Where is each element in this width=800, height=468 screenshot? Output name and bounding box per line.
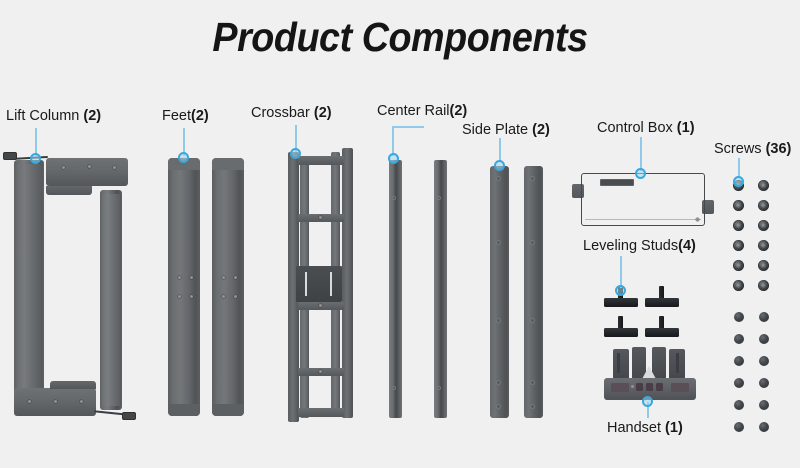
label-side-plate: Side Plate (2)	[462, 122, 550, 138]
crossbar-rail-right	[342, 148, 353, 418]
side-plate-hole	[530, 176, 535, 181]
handset-panel-right	[671, 383, 689, 392]
leveling-stud-base	[604, 298, 638, 307]
foot-hole	[178, 295, 181, 298]
foot-hole	[178, 276, 181, 279]
leader-line-leveling-studs	[620, 256, 622, 288]
screw-socket-head	[758, 280, 769, 291]
leader-line-lift-column	[35, 128, 37, 156]
handset-panel-left	[611, 383, 629, 392]
side-plate-hole	[496, 176, 501, 181]
crossbar-center-block	[296, 266, 342, 302]
lift-column-left-inner	[17, 164, 41, 401]
foot-2-bottom-cap	[212, 404, 244, 416]
foot-hole	[234, 295, 237, 298]
label-crossbar-text: Crossbar	[251, 105, 310, 121]
label-crossbar-qty: (2)	[314, 105, 332, 121]
center-rail-hole	[437, 386, 441, 390]
foot-1	[168, 158, 200, 416]
lift-column-top-bracket-tab	[46, 186, 92, 195]
crossbar-hole	[319, 370, 322, 373]
label-feet: Feet(2)	[162, 108, 209, 124]
crossbar-fin	[330, 272, 332, 296]
screw-socket-head	[733, 240, 744, 251]
crossbar-rung-top	[298, 156, 344, 165]
label-lift-column-qty: (2)	[83, 108, 101, 124]
leader-dot-screws	[733, 176, 744, 187]
screw-flat-head	[759, 312, 769, 322]
handset-bracket-slot	[676, 353, 679, 373]
product-components-diagram: Product Components Lift Column (2)	[0, 0, 800, 468]
leader-dot-handset	[642, 396, 653, 407]
screw-socket-head	[758, 240, 769, 251]
label-lift-column: Lift Column (2)	[6, 108, 101, 124]
foot-1-bottom-cap	[168, 404, 200, 416]
crossbar-hole	[319, 304, 322, 307]
label-screws: Screws (36)	[714, 141, 791, 157]
bracket-hole	[62, 166, 65, 169]
side-plate-hole	[530, 404, 535, 409]
foot-hole	[222, 276, 225, 279]
label-lift-column-text: Lift Column	[6, 108, 79, 124]
label-leveling-studs-qty: (4)	[678, 238, 696, 254]
control-box-seam	[585, 219, 701, 220]
side-plate-hole	[530, 240, 535, 245]
leveling-stud-base	[645, 328, 679, 337]
screw-socket-head	[733, 200, 744, 211]
leader-line-center-rail-vertical	[392, 126, 394, 156]
leveling-stud-base	[645, 298, 679, 307]
handset-bracket-left	[613, 349, 629, 379]
label-leveling-studs-text: Leveling Studs	[583, 238, 678, 254]
label-center-rail-qty: (2)	[450, 103, 468, 119]
leader-dot-lift-column	[30, 153, 41, 164]
leader-line-side-plate	[499, 138, 501, 162]
handset-indicator-dot	[631, 385, 634, 388]
leader-dot-leveling-studs	[615, 285, 626, 296]
label-center-rail-text: Center Rail	[377, 103, 450, 119]
screw-socket-head	[733, 260, 744, 271]
side-plate-hole	[496, 318, 501, 323]
center-rail-hole	[392, 386, 396, 390]
leader-dot-crossbar	[290, 148, 301, 159]
label-feet-qty: (2)	[191, 108, 209, 124]
screw-flat-head	[734, 378, 744, 388]
screw-flat-head	[759, 422, 769, 432]
foot-2	[212, 158, 244, 416]
lift-column-bottom-bracket-tab	[50, 381, 96, 389]
side-plate-hole	[530, 318, 535, 323]
screw-socket-head	[733, 220, 744, 231]
control-box-label-plate	[600, 179, 634, 186]
screw-flat-head	[734, 312, 744, 322]
handset-bracket-slot	[617, 353, 620, 373]
leader-dot-side-plate	[494, 160, 505, 171]
label-handset-qty: (1)	[665, 420, 683, 436]
screw-flat-head	[734, 334, 744, 344]
bracket-hole	[80, 400, 83, 403]
lift-column-right-inner	[102, 194, 120, 406]
screw-socket-head	[758, 260, 769, 271]
bracket-hole	[54, 400, 57, 403]
lift-column-top-cable-plug	[3, 152, 17, 160]
handset-button[interactable]	[636, 383, 643, 391]
leader-line-screws	[738, 158, 740, 178]
screw-flat-head	[734, 422, 744, 432]
side-plate-hole	[496, 404, 501, 409]
label-handset: Handset (1)	[607, 420, 683, 436]
label-leveling-studs: Leveling Studs(4)	[583, 238, 696, 254]
label-screws-text: Screws	[714, 141, 762, 157]
handset-button[interactable]	[656, 383, 663, 391]
label-side-plate-qty: (2)	[532, 122, 550, 138]
lift-column-bottom-cable-plug	[122, 412, 136, 420]
label-feet-text: Feet	[162, 108, 191, 124]
label-crossbar: Crossbar (2)	[251, 105, 332, 121]
label-screws-qty: (36)	[766, 141, 792, 157]
leader-dot-feet	[178, 152, 189, 163]
page-title: Product Components	[32, 14, 768, 61]
leader-line-control-box	[640, 137, 642, 171]
screw-socket-head	[733, 280, 744, 291]
crossbar-hole	[319, 216, 322, 219]
handset-button[interactable]	[646, 383, 653, 391]
bracket-hole	[88, 165, 91, 168]
label-handset-text: Handset	[607, 420, 661, 436]
bracket-hole	[113, 166, 116, 169]
label-center-rail: Center Rail(2)	[377, 103, 467, 119]
screw-flat-head	[759, 400, 769, 410]
lift-column-top-bracket	[46, 158, 128, 186]
crossbar-rung-bottom	[298, 408, 344, 417]
screw-flat-head	[734, 356, 744, 366]
foot-hole	[222, 295, 225, 298]
side-plate-hole	[530, 380, 535, 385]
leader-dot-center-rail	[388, 153, 399, 164]
label-control-box-text: Control Box	[597, 120, 673, 136]
side-plate-hole	[496, 380, 501, 385]
foot-2-top-cap	[212, 158, 244, 170]
screw-flat-head	[759, 356, 769, 366]
screw-flat-head	[734, 400, 744, 410]
foot-hole	[234, 276, 237, 279]
leveling-stud-base	[604, 328, 638, 337]
leader-line-center-rail-horizontal	[392, 126, 424, 128]
label-control-box: Control Box (1)	[597, 120, 695, 136]
screw-socket-head	[758, 180, 769, 191]
center-rail-hole	[437, 196, 441, 200]
bracket-hole	[28, 400, 31, 403]
crossbar-fin	[305, 272, 307, 296]
screw-flat-head	[759, 378, 769, 388]
leader-dot-control-box	[635, 168, 646, 179]
screw-socket-head	[758, 200, 769, 211]
screw-socket-head	[758, 220, 769, 231]
screw-flat-head	[759, 334, 769, 344]
control-box-hole	[696, 218, 699, 221]
foot-hole	[190, 295, 193, 298]
foot-hole	[190, 276, 193, 279]
label-side-plate-text: Side Plate	[462, 122, 528, 138]
label-control-box-qty: (1)	[677, 120, 695, 136]
side-plate-hole	[496, 240, 501, 245]
center-rail-hole	[392, 196, 396, 200]
